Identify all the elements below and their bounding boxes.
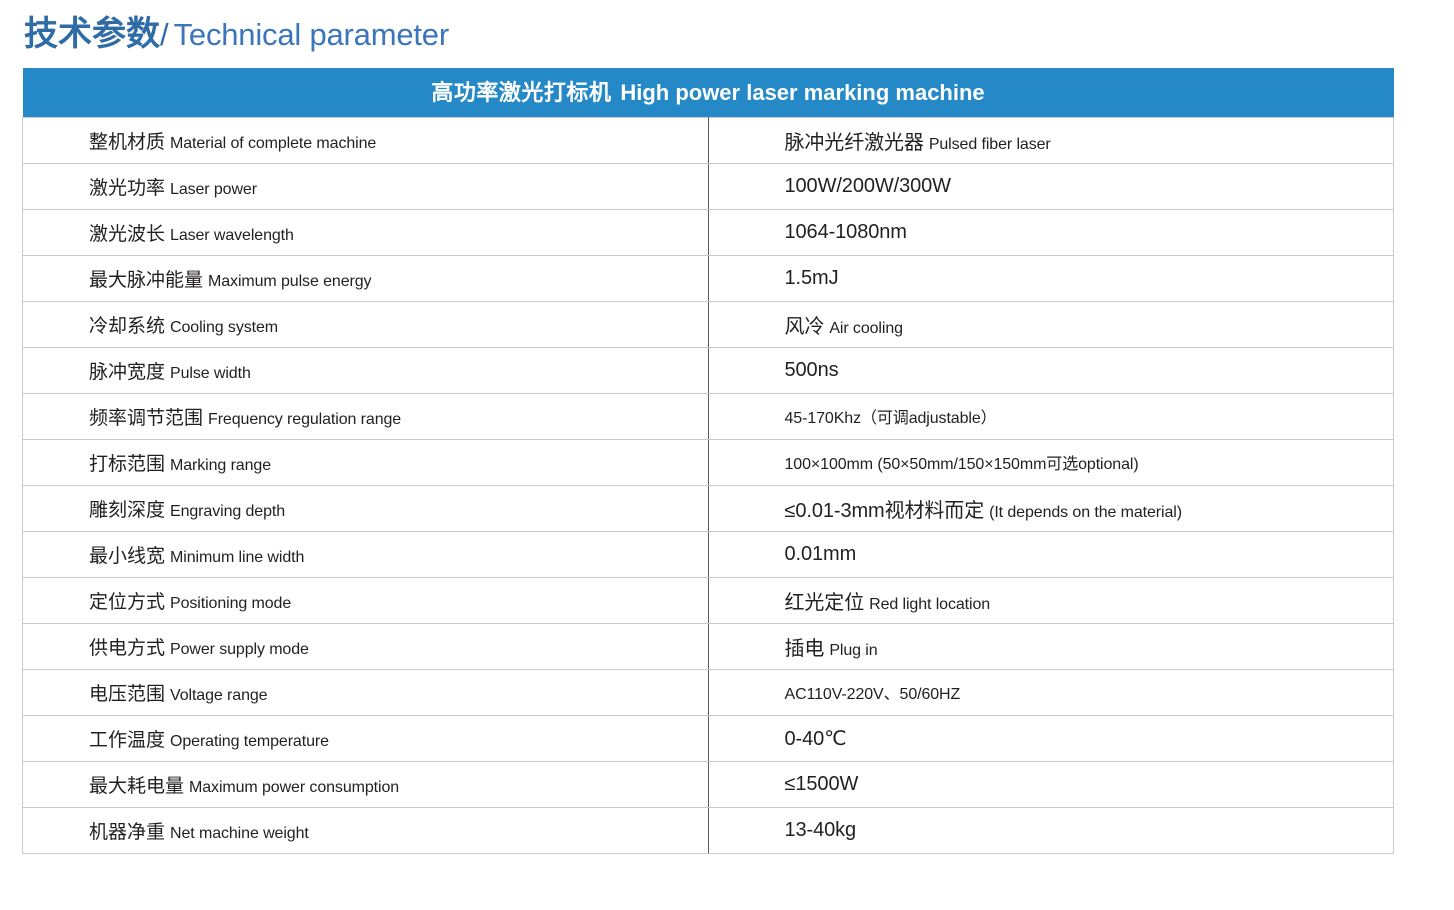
page-title-english: Technical parameter xyxy=(174,17,449,53)
parameter-value-main: 13-40kg xyxy=(785,819,857,841)
table-row: 最大耗电量Maximum power consumption≤1500W xyxy=(23,761,1394,807)
parameter-value-sub: Red light location xyxy=(869,596,990,613)
parameter-value-sub: (It depends on the material) xyxy=(989,504,1182,521)
table-row: 激光波长Laser wavelength1064-1080nm xyxy=(23,209,1394,255)
parameter-value-main: 100×100mm (50×50mm/150×150mm可选optional) xyxy=(785,456,1139,473)
page-title-separator: / xyxy=(160,17,169,53)
table-header-title-chinese: 高功率激光打标机 xyxy=(431,80,611,105)
parameter-label-chinese: 最大耗电量 xyxy=(89,776,184,797)
parameter-value-cell: 45-170Khz（可调adjustable） xyxy=(708,393,1394,439)
parameter-value-main: 插电 xyxy=(785,638,825,660)
parameter-label-english: Pulse width xyxy=(170,365,251,382)
parameter-label-english: Power supply mode xyxy=(170,641,309,658)
parameter-label-cell: 定位方式Positioning mode xyxy=(23,577,709,623)
parameter-label-chinese: 供电方式 xyxy=(89,638,165,659)
parameter-label-cell: 最小线宽Minimum line width xyxy=(23,531,709,577)
table-row: 最大脉冲能量Maximum pulse energy1.5mJ xyxy=(23,255,1394,301)
parameter-value-main: 0.01mm xyxy=(785,543,857,565)
parameter-label-english: Laser wavelength xyxy=(170,227,294,244)
parameter-label-chinese: 最小线宽 xyxy=(89,546,165,567)
parameter-label-english: Net machine weight xyxy=(170,825,309,842)
parameter-value-cell: AC110V-220V、50/60HZ xyxy=(708,669,1394,715)
parameter-value-cell: 1.5mJ xyxy=(708,255,1394,301)
parameter-label-chinese: 机器净重 xyxy=(89,822,165,843)
parameter-label-english: Maximum power consumption xyxy=(189,779,399,796)
parameter-value-main: 风冷 xyxy=(785,316,825,338)
parameter-value-main: 500ns xyxy=(785,359,839,381)
parameter-label-english: Maximum pulse energy xyxy=(208,273,371,290)
parameter-label-cell: 雕刻深度Engraving depth xyxy=(23,485,709,531)
parameter-label-cell: 冷却系统Cooling system xyxy=(23,301,709,347)
technical-parameter-table: 高功率激光打标机High power laser marking machine… xyxy=(22,68,1394,854)
parameter-label-chinese: 打标范围 xyxy=(89,454,165,475)
parameter-label-cell: 激光波长Laser wavelength xyxy=(23,209,709,255)
parameter-value-main: 100W/200W/300W xyxy=(785,175,951,197)
table-body: 整机材质Material of complete machine脉冲光纤激光器P… xyxy=(23,117,1394,853)
table-header-title: 高功率激光打标机High power laser marking machine xyxy=(23,68,1394,117)
table-row: 定位方式Positioning mode红光定位Red light locati… xyxy=(23,577,1394,623)
parameter-value-main: 脉冲光纤激光器 xyxy=(785,132,924,154)
parameter-value-cell: 0-40℃ xyxy=(708,715,1394,761)
parameter-label-english: Marking range xyxy=(170,457,271,474)
parameter-label-cell: 频率调节范围Frequency regulation range xyxy=(23,393,709,439)
parameter-value-cell: ≤0.01-3mm视材料而定(It depends on the materia… xyxy=(708,485,1394,531)
parameter-label-english: Operating temperature xyxy=(170,733,329,750)
parameter-label-cell: 机器净重Net machine weight xyxy=(23,807,709,853)
parameter-label-chinese: 电压范围 xyxy=(89,684,165,705)
parameter-value-main: ≤1500W xyxy=(785,773,859,795)
parameter-label-english: Laser power xyxy=(170,181,257,198)
parameter-label-cell: 工作温度Operating temperature xyxy=(23,715,709,761)
parameter-label-english: Voltage range xyxy=(170,687,267,704)
parameter-value-cell: 红光定位Red light location xyxy=(708,577,1394,623)
table-row: 冷却系统Cooling system风冷Air cooling xyxy=(23,301,1394,347)
parameter-value-cell: 100×100mm (50×50mm/150×150mm可选optional) xyxy=(708,439,1394,485)
parameter-value-main: 1.5mJ xyxy=(785,267,839,289)
parameter-label-cell: 最大耗电量Maximum power consumption xyxy=(23,761,709,807)
parameter-value-cell: 0.01mm xyxy=(708,531,1394,577)
table-row: 电压范围Voltage rangeAC110V-220V、50/60HZ xyxy=(23,669,1394,715)
parameter-value-cell: 1064-1080nm xyxy=(708,209,1394,255)
table-row: 打标范围Marking range100×100mm (50×50mm/150×… xyxy=(23,439,1394,485)
parameter-label-chinese: 激光功率 xyxy=(89,178,165,199)
parameter-label-chinese: 雕刻深度 xyxy=(89,500,165,521)
parameter-value-cell: 100W/200W/300W xyxy=(708,163,1394,209)
parameter-label-chinese: 工作温度 xyxy=(89,730,165,751)
parameter-label-chinese: 脉冲宽度 xyxy=(89,362,165,383)
parameter-label-cell: 供电方式Power supply mode xyxy=(23,623,709,669)
parameter-value-sub: Air cooling xyxy=(829,320,903,337)
parameter-label-chinese: 频率调节范围 xyxy=(89,408,203,429)
table-row: 激光功率Laser power100W/200W/300W xyxy=(23,163,1394,209)
table-head: 高功率激光打标机High power laser marking machine xyxy=(23,68,1394,117)
table-row: 供电方式Power supply mode插电Plug in xyxy=(23,623,1394,669)
table-header-row: 高功率激光打标机High power laser marking machine xyxy=(23,68,1394,117)
parameter-value-cell: 插电Plug in xyxy=(708,623,1394,669)
parameter-label-chinese: 冷却系统 xyxy=(89,316,165,337)
parameter-label-english: Frequency regulation range xyxy=(208,411,401,428)
page-title: 技术参数/Technical parameter xyxy=(24,6,449,58)
table-row: 整机材质Material of complete machine脉冲光纤激光器P… xyxy=(23,117,1394,163)
table-row: 机器净重Net machine weight13-40kg xyxy=(23,807,1394,853)
table-header-title-english: High power laser marking machine xyxy=(620,80,984,105)
table-row: 频率调节范围Frequency regulation range45-170Kh… xyxy=(23,393,1394,439)
parameter-label-english: Engraving depth xyxy=(170,503,285,520)
parameter-label-chinese: 最大脉冲能量 xyxy=(89,270,203,291)
parameter-value-cell: 脉冲光纤激光器Pulsed fiber laser xyxy=(708,117,1394,163)
parameter-label-cell: 电压范围Voltage range xyxy=(23,669,709,715)
parameter-value-cell: 13-40kg xyxy=(708,807,1394,853)
table-row: 脉冲宽度Pulse width500ns xyxy=(23,347,1394,393)
parameter-label-english: Positioning mode xyxy=(170,595,291,612)
parameter-label-chinese: 激光波长 xyxy=(89,224,165,245)
parameter-value-sub: Plug in xyxy=(829,642,877,659)
parameter-value-main: 0-40℃ xyxy=(785,728,847,750)
parameter-label-english: Material of complete machine xyxy=(170,135,376,152)
parameter-label-english: Minimum line width xyxy=(170,549,304,566)
parameter-value-main: 45-170Khz（可调adjustable） xyxy=(785,410,997,427)
parameter-label-cell: 最大脉冲能量Maximum pulse energy xyxy=(23,255,709,301)
parameter-label-chinese: 整机材质 xyxy=(89,132,165,153)
parameter-value-cell: 500ns xyxy=(708,347,1394,393)
parameter-value-sub: Pulsed fiber laser xyxy=(929,136,1051,153)
spec-sheet-page: 技术参数/Technical parameter 高功率激光打标机High po… xyxy=(0,0,1454,910)
parameter-label-cell: 激光功率Laser power xyxy=(23,163,709,209)
parameter-value-main: ≤0.01-3mm视材料而定 xyxy=(785,500,985,522)
parameter-value-main: 红光定位 xyxy=(785,592,865,614)
parameter-value-main: 1064-1080nm xyxy=(785,221,907,243)
parameter-label-chinese: 定位方式 xyxy=(89,592,165,613)
table-row: 最小线宽Minimum line width0.01mm xyxy=(23,531,1394,577)
parameter-label-english: Cooling system xyxy=(170,319,278,336)
parameter-value-main: AC110V-220V、50/60HZ xyxy=(785,686,961,703)
parameter-value-cell: 风冷Air cooling xyxy=(708,301,1394,347)
parameter-value-cell: ≤1500W xyxy=(708,761,1394,807)
table-row: 雕刻深度Engraving depth≤0.01-3mm视材料而定(It dep… xyxy=(23,485,1394,531)
parameter-label-cell: 整机材质Material of complete machine xyxy=(23,117,709,163)
table-row: 工作温度Operating temperature0-40℃ xyxy=(23,715,1394,761)
parameter-label-cell: 打标范围Marking range xyxy=(23,439,709,485)
page-title-chinese: 技术参数 xyxy=(24,6,160,55)
parameter-label-cell: 脉冲宽度Pulse width xyxy=(23,347,709,393)
